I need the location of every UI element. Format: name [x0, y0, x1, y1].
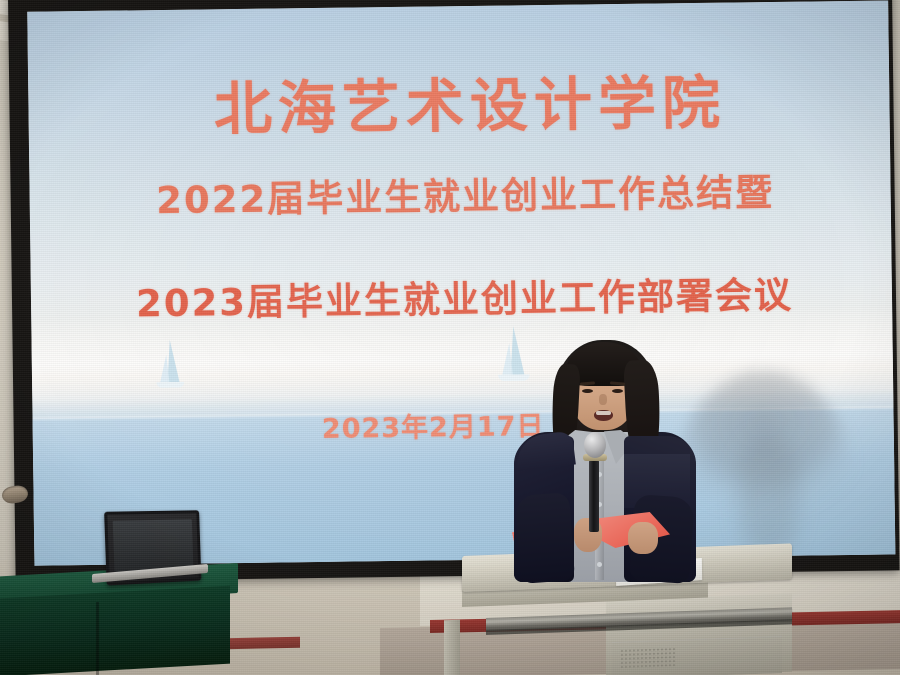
- table-skirt: [0, 586, 230, 675]
- projection-screen: 北海艺术设计学院 2022届毕业生就业创业工作总结暨 2023届毕业生就业创业工…: [8, 0, 900, 582]
- slide-title: 北海艺术设计学院: [28, 53, 890, 148]
- microphone-head-icon: [584, 432, 606, 458]
- laptop-icon: [106, 511, 202, 585]
- presentation-photo-scene: 北海艺术设计学院 2022届毕业生就业创业工作总结暨 2023届毕业生就业创业工…: [0, 0, 900, 675]
- side-table: [0, 578, 238, 675]
- lectern-vent-icon: [620, 647, 676, 669]
- shirt-button: [597, 562, 602, 567]
- lectern-leg: [444, 620, 460, 675]
- speaker-eye-left: [582, 389, 593, 393]
- table-skirt-fold: [96, 602, 99, 675]
- slide-subtitle-line-1: 2022届毕业生就业创业工作总结暨: [29, 160, 891, 225]
- speaker-hand-right: [628, 522, 658, 554]
- speaker-shoulder-left: [514, 431, 576, 472]
- speaker-eye-right: [612, 389, 623, 393]
- speaker: [500, 336, 710, 580]
- microphone-body: [589, 460, 599, 532]
- slide-subtitle-line-2: 2023届毕业生就业创业工作部署会议: [31, 264, 893, 329]
- speaker-mouth: [594, 410, 613, 421]
- speaker-nose: [599, 394, 607, 405]
- speaker-arm-left: [515, 492, 575, 584]
- projection-surface: 北海艺术设计学院 2022届毕业生就业创业工作总结暨 2023届毕业生就业创业工…: [27, 0, 895, 565]
